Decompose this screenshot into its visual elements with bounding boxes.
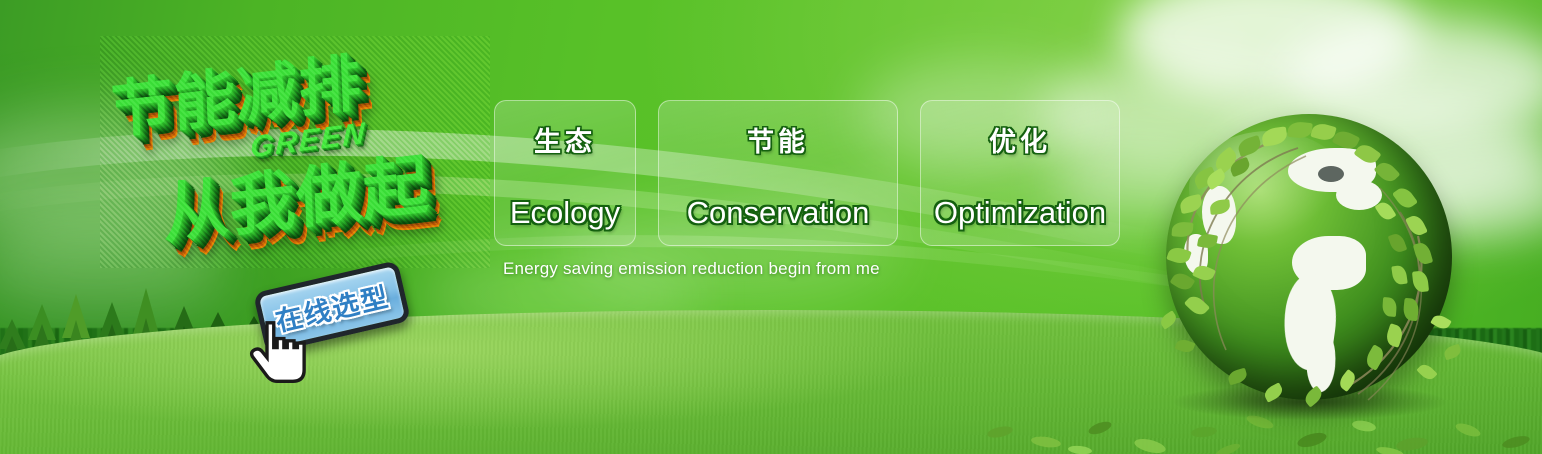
card-title-en: Optimization (934, 195, 1106, 231)
feature-card-conservation[interactable]: 节能 Conservation (658, 100, 898, 246)
feature-card-optimization[interactable]: 优化 Optimization (920, 100, 1120, 246)
card-title-cn: 优化 (989, 120, 1051, 159)
feature-card-ecology[interactable]: 生态 Ecology (494, 100, 636, 246)
leafy-earth-globe-icon (1152, 108, 1464, 428)
card-title-cn: 节能 (747, 120, 809, 159)
card-title-en: Conservation (687, 195, 870, 231)
banner-tagline: Energy saving emission reduction begin f… (503, 259, 880, 279)
headline-3d-logo: 节能减排 从我做起 GREEN (100, 36, 490, 268)
eco-promo-banner: 节能减排 从我做起 GREEN 在线选型 生态 Ecology 节能 Conse… (0, 0, 1542, 454)
card-title-en: Ecology (510, 195, 620, 231)
card-title-cn: 生态 (534, 120, 596, 159)
pointing-hand-cursor-icon (240, 316, 312, 388)
feature-card-row: 生态 Ecology 节能 Conservation 优化 Optimizati… (494, 100, 1120, 246)
